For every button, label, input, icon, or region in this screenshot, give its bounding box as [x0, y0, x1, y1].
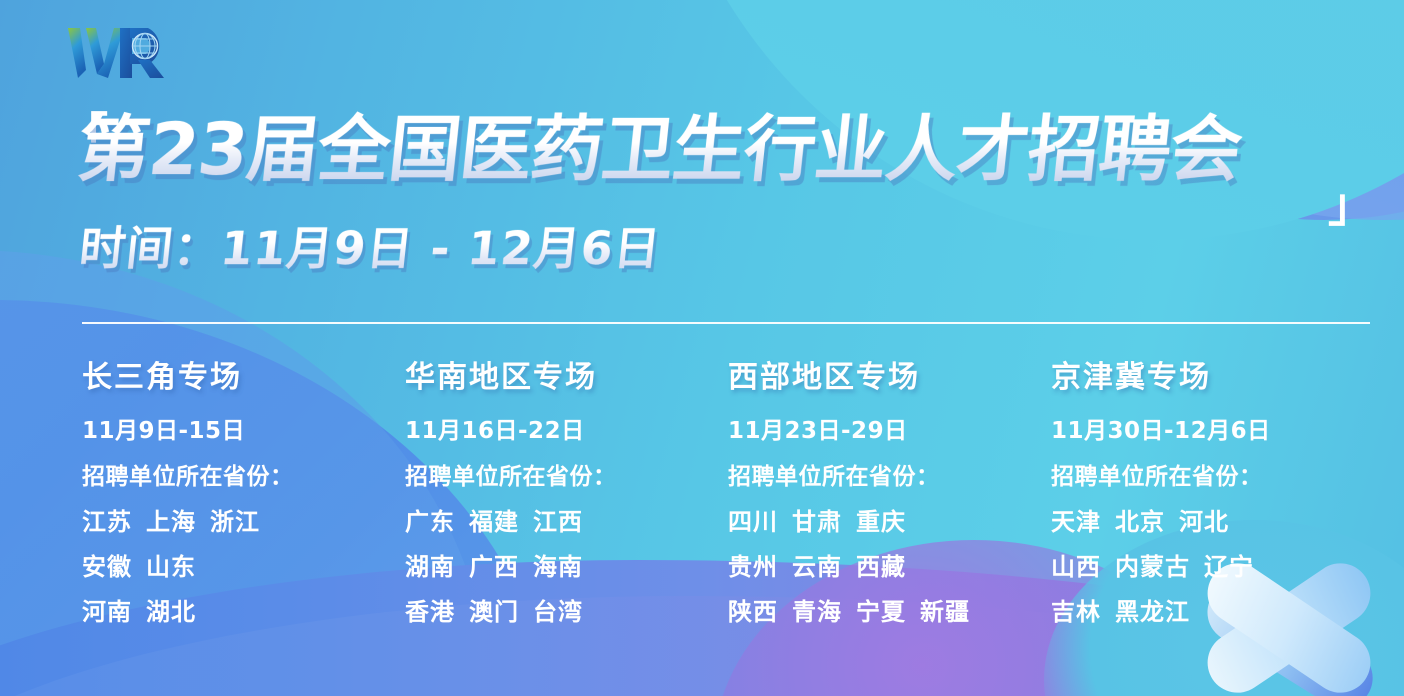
- province-name: 甘肃: [792, 508, 842, 536]
- section-divider: [82, 322, 1370, 324]
- session-title: 西部地区专场: [728, 352, 1051, 396]
- province-name: 台湾: [533, 598, 583, 626]
- wr-globe-logo[interactable]: [64, 22, 176, 84]
- province-row: 香港澳门台湾: [405, 592, 728, 627]
- session-province-label: 招聘单位所在省份：: [1051, 457, 1374, 491]
- session-title: 长三角专场: [82, 352, 405, 396]
- province-name: 江苏: [82, 508, 132, 536]
- province-name: 广西: [469, 553, 519, 581]
- session-column: 华南地区专场11月16日-22日招聘单位所在省份：广东福建江西湖南广西海南香港澳…: [405, 352, 728, 637]
- province-name: 重庆: [856, 508, 906, 536]
- province-row: 四川甘肃重庆: [728, 502, 1051, 537]
- province-name: 广东: [405, 508, 455, 536]
- session-title: 京津冀专场: [1051, 352, 1374, 396]
- province-name: 河南: [82, 598, 132, 626]
- province-name: 陕西: [728, 598, 778, 626]
- session-province-label: 招聘单位所在省份：: [82, 457, 405, 491]
- province-name: 澳门: [469, 598, 519, 626]
- province-row: 吉林黑龙江: [1051, 592, 1374, 627]
- province-name: 山东: [146, 553, 196, 581]
- province-name: 四川: [728, 508, 778, 536]
- province-name: 香港: [405, 598, 455, 626]
- session-date: 11月30日-12月6日: [1051, 411, 1374, 445]
- session-title: 华南地区专场: [405, 352, 728, 396]
- province-name: 辽宁: [1204, 553, 1254, 581]
- province-name: 新疆: [920, 598, 970, 626]
- province-name: 宁夏: [856, 598, 906, 626]
- province-name: 青海: [792, 598, 842, 626]
- province-row: 湖南广西海南: [405, 547, 728, 582]
- session-column: 长三角专场11月9日-15日招聘单位所在省份：江苏上海浙江安徽山东河南湖北: [82, 352, 405, 637]
- province-name: 贵州: [728, 553, 778, 581]
- province-row: 河南湖北: [82, 592, 405, 627]
- session-column: 京津冀专场11月30日-12月6日招聘单位所在省份：天津北京河北山西内蒙古辽宁吉…: [1051, 352, 1374, 637]
- province-name: 北京: [1115, 508, 1165, 536]
- province-name: 福建: [469, 508, 519, 536]
- province-name: 湖北: [146, 598, 196, 626]
- province-name: 天津: [1051, 508, 1101, 536]
- province-row: 贵州云南西藏: [728, 547, 1051, 582]
- session-province-label: 招聘单位所在省份：: [405, 457, 728, 491]
- poster-banner: 「 」 第23届全国医药卫生行业人才招聘会 时间：11月9日 - 12月6日 长…: [0, 0, 1404, 696]
- province-name: 河北: [1179, 508, 1229, 536]
- session-columns: 长三角专场11月9日-15日招聘单位所在省份：江苏上海浙江安徽山东河南湖北华南地…: [82, 352, 1374, 637]
- province-row: 江苏上海浙江: [82, 502, 405, 537]
- province-name: 黑龙江: [1115, 598, 1190, 626]
- event-period-subtitle: 时间：11月9日 - 12月6日: [77, 212, 665, 278]
- province-name: 湖南: [405, 553, 455, 581]
- session-date: 11月9日-15日: [82, 411, 405, 445]
- province-name: 安徽: [82, 553, 132, 581]
- province-row: 安徽山东: [82, 547, 405, 582]
- page-title: 第23届全国医药卫生行业人才招聘会: [74, 108, 1246, 190]
- province-row: 山西内蒙古辽宁: [1051, 547, 1374, 582]
- province-row: 广东福建江西: [405, 502, 728, 537]
- province-row: 天津北京河北: [1051, 502, 1374, 537]
- province-name: 海南: [533, 553, 583, 581]
- bracket-close-icon: 」: [1328, 182, 1374, 228]
- province-name: 西藏: [856, 553, 906, 581]
- session-date: 11月16日-22日: [405, 411, 728, 445]
- province-name: 上海: [146, 508, 196, 536]
- province-name: 浙江: [210, 508, 260, 536]
- session-date: 11月23日-29日: [728, 411, 1051, 445]
- province-name: 山西: [1051, 553, 1101, 581]
- province-name: 江西: [533, 508, 583, 536]
- session-province-label: 招聘单位所在省份：: [728, 457, 1051, 491]
- province-name: 云南: [792, 553, 842, 581]
- session-column: 西部地区专场11月23日-29日招聘单位所在省份：四川甘肃重庆贵州云南西藏陕西青…: [728, 352, 1051, 637]
- province-name: 内蒙古: [1115, 553, 1190, 581]
- province-name: 吉林: [1051, 598, 1101, 626]
- province-row: 陕西青海宁夏新疆: [728, 592, 1051, 627]
